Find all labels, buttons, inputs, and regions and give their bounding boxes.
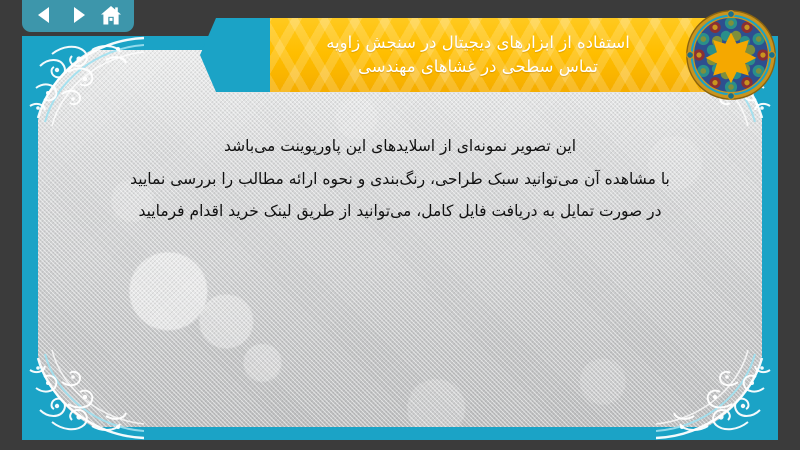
body-line-2: با مشاهده آن می‌توانید سبک طراحی، رنگ‌بن… — [46, 169, 754, 190]
home-icon — [100, 5, 122, 26]
home-button[interactable] — [97, 2, 125, 28]
banner-arrow-pointer — [200, 18, 274, 92]
body-line-3: در صورت تمایل به دریافت فایل کامل، می‌تو… — [46, 201, 754, 222]
title-banner-body: استفاده از ابزارهای دیجیتال در سنجش زاوی… — [270, 18, 740, 92]
slide-viewer: این تصویر نمونه‌ای از اسلایدهای این پاور… — [0, 0, 800, 450]
navigation-toolbar — [22, 0, 134, 32]
title-banner: استفاده از ابزارهای دیجیتال در سنجش زاوی… — [200, 18, 740, 92]
title-line-2: تماس سطحی در غشاهای مهندسی — [358, 55, 598, 79]
triangle-left-icon — [35, 5, 55, 25]
body-line-1: این تصویر نمونه‌ای از اسلایدهای این پاور… — [46, 136, 754, 157]
title-line-1: استفاده از ابزارهای دیجیتال در سنجش زاوی… — [326, 31, 630, 55]
next-slide-button[interactable] — [64, 2, 92, 28]
persian-medallion-ornament — [684, 8, 778, 102]
triangle-right-icon — [68, 5, 88, 25]
slide-canvas — [38, 50, 762, 427]
background-texture — [38, 50, 762, 427]
slide-body-text: این تصویر نمونه‌ای از اسلایدهای این پاور… — [46, 136, 754, 232]
slide-frame: این تصویر نمونه‌ای از اسلایدهای این پاور… — [22, 36, 778, 440]
previous-slide-button[interactable] — [31, 2, 59, 28]
